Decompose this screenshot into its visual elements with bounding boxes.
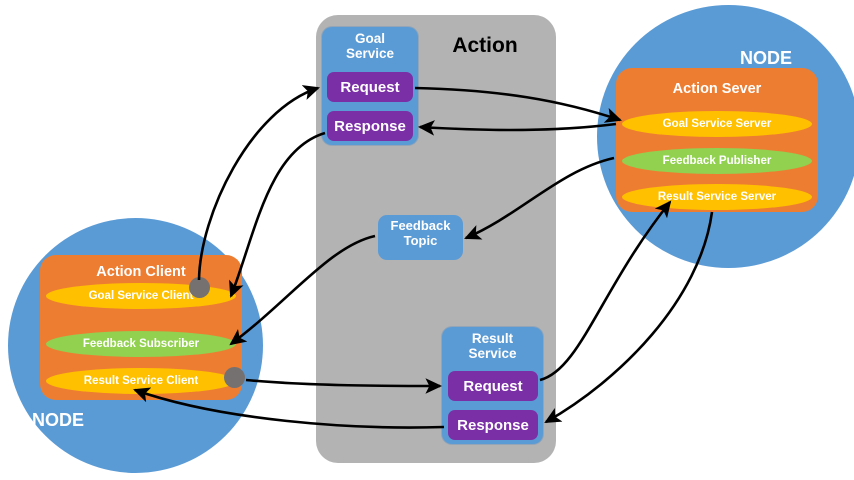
- arrow-goalresponse-to-goalclient: [231, 133, 325, 296]
- diagram-canvas: Action Action Client Action Sever NODE N…: [0, 0, 854, 480]
- feedback-topic-label: FeedbackTopic: [378, 219, 463, 248]
- action-client-title: Action Client: [40, 264, 242, 280]
- goal-service-server-pill[interactable]: Goal Service Server: [622, 111, 812, 137]
- feedback-publisher-pill[interactable]: Feedback Publisher: [622, 148, 812, 174]
- goal-service-request[interactable]: Request: [327, 72, 413, 102]
- result-service-client-pill[interactable]: Result Service Client: [46, 368, 236, 394]
- feedback-topic-line2: Topic: [404, 233, 438, 248]
- result-service-title-line1: Result: [472, 331, 513, 346]
- goal-service-title-line1: Goal: [355, 31, 385, 46]
- result-service-request[interactable]: Request: [448, 371, 538, 401]
- action-server-title: Action Sever: [616, 81, 818, 97]
- result-service-response[interactable]: Response: [448, 410, 538, 440]
- feedback-subscriber-pill[interactable]: Feedback Subscriber: [46, 331, 236, 357]
- goal-service-title: GoalService: [322, 31, 418, 61]
- result-service-server-pill[interactable]: Result Service Server: [622, 184, 812, 210]
- server-node-label: NODE: [740, 48, 830, 68]
- client-node-label: NODE: [32, 410, 122, 430]
- feedback-topic-line1: Feedback: [391, 218, 451, 233]
- goal-service-response[interactable]: Response: [327, 111, 413, 141]
- result-service-title: ResultService: [442, 331, 543, 361]
- action-container-title: Action: [430, 34, 540, 58]
- goal-service-title-line2: Service: [346, 46, 394, 61]
- result-client-send-dot-icon: [224, 367, 245, 388]
- result-service-title-line2: Service: [468, 346, 516, 361]
